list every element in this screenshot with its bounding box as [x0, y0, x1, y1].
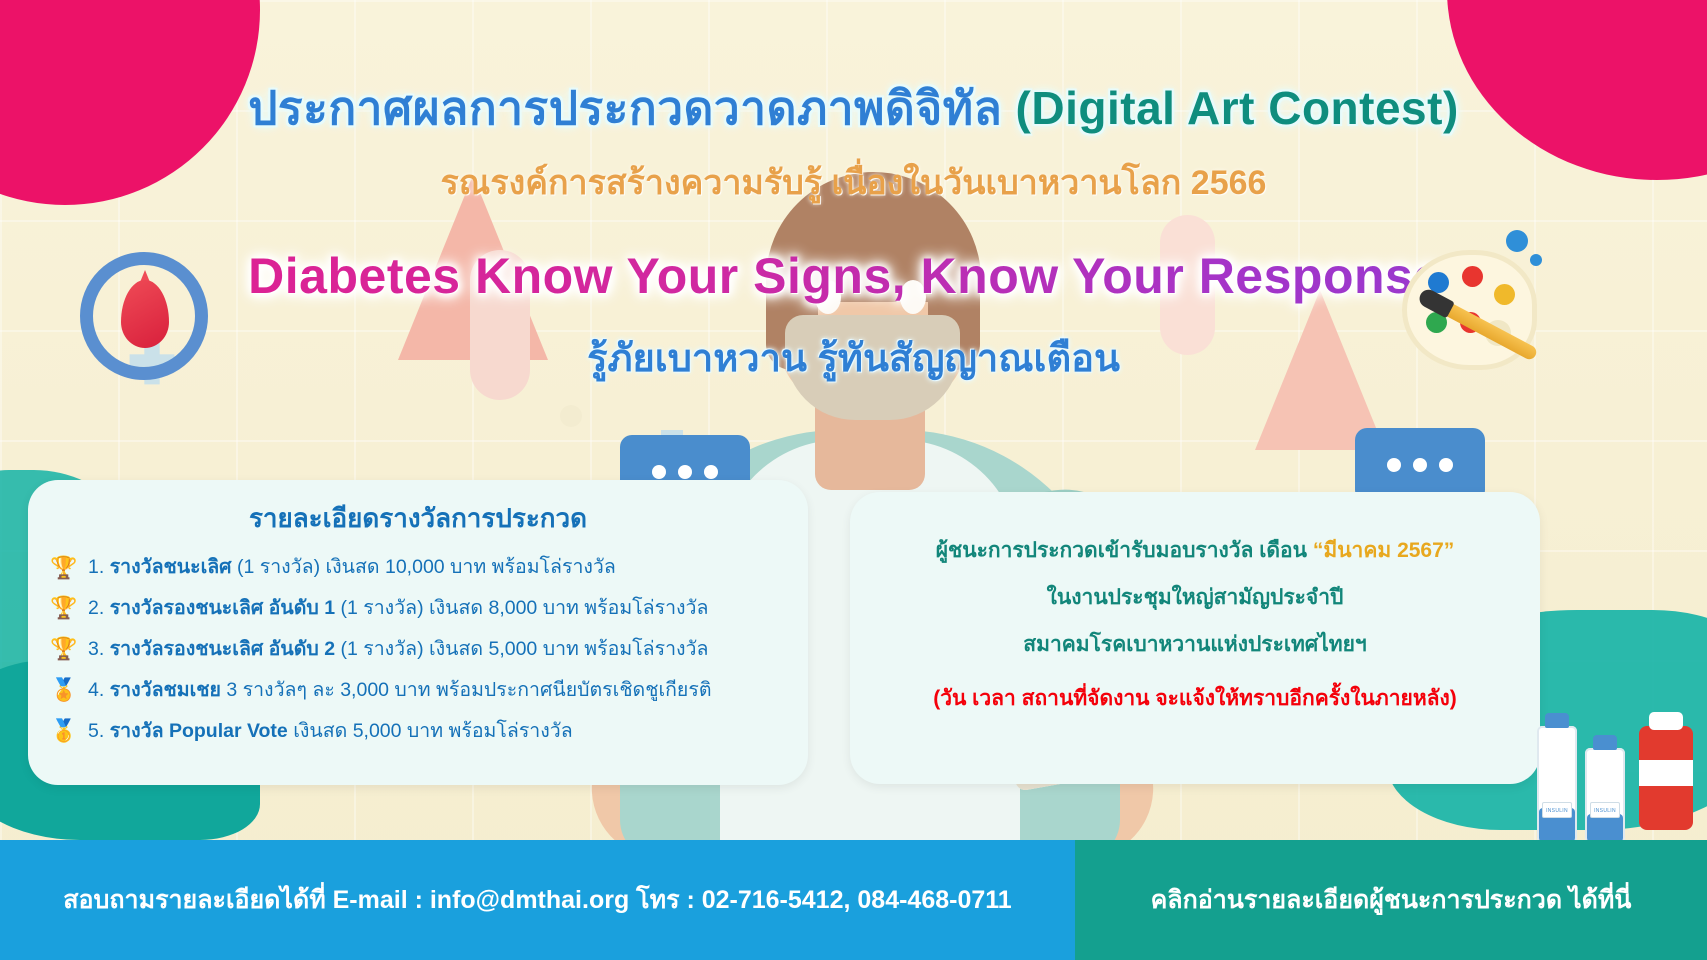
ceremony-organizer-line: สมาคมโรคเบาหวานแห่งประเทศไทยฯ: [850, 621, 1540, 668]
ceremony-date-line: ผู้ชนะการประกวดเข้ารับมอบรางวัล เดือน “ม…: [850, 492, 1540, 574]
blood-drop-icon: [80, 252, 208, 380]
contact-info-bar: สอบถามรายละเอียดได้ที่ E-mail : info@dmt…: [0, 840, 1075, 960]
prize-list-item: 🥇 5. รางวัล Popular Vote เงินสด 5,000 บา…: [50, 711, 792, 752]
art-palette-icon: [1402, 250, 1537, 370]
speech-bubble-icon-right: [1355, 428, 1485, 502]
ceremony-date-prefix: ผู้ชนะการประกวดเข้ารับมอบรางวัล เดือน: [936, 539, 1313, 562]
insulin-vials-illustration: INSULIN INSULIN: [1529, 694, 1679, 844]
insulin-vial-icon: INSULIN: [1585, 748, 1625, 844]
trophy-icon: 🏆: [50, 633, 78, 665]
prize-list-item: 🏆 2. รางวัลรองชนะเลิศ อันดับ 1 (1 รางวัล…: [50, 588, 792, 629]
prize-list-item: 🏅 4. รางวัลชมเชย 3 รางวัลๆ ละ 3,000 บาท …: [50, 670, 792, 711]
ceremony-month-highlight: “มีนาคม 2567”: [1313, 539, 1454, 562]
prize-number: 5.: [88, 720, 110, 742]
page-title-thai: ประกาศผลการประกวดวาดภาพดิจิทัล: [248, 82, 1015, 134]
winners-link-button[interactable]: คลิกอ่านรายละเอียดผู้ชนะการประกวด ได้ที่…: [1075, 840, 1707, 960]
page-subtitle: รณรงค์การสร้างความรับรู้ เนื่องในวันเบาห…: [0, 155, 1707, 209]
prize-list-item: 🏆 3. รางวัลรองชนะเลิศ อันดับ 2 (1 รางวัล…: [50, 629, 792, 670]
prize-number: 2.: [88, 597, 110, 619]
insulin-vial-icon: INSULIN: [1537, 726, 1577, 844]
rosette-icon: 🏅: [50, 674, 78, 706]
prize-detail: (1 รางวัล) เงินสด 10,000 บาท พร้อมโล่ราง…: [232, 556, 616, 578]
prize-details-card: รายละเอียดรางวัลการประกวด 🏆 1. รางวัลชนะ…: [28, 480, 808, 785]
trophy-icon: 🏆: [50, 592, 78, 624]
medal-icon: 🥇: [50, 715, 78, 747]
page-title-english: (Digital Art Contest): [1016, 82, 1459, 134]
ceremony-notice-line: (วัน เวลา สถานที่จัดงาน จะแจ้งให้ทราบอีก…: [850, 668, 1540, 722]
ceremony-event-line: ในงานประชุมใหญ่สามัญประจำปี: [850, 574, 1540, 621]
poster-canvas: ประกาศผลการประกวดวาดภาพดิจิทัล (Digital …: [0, 0, 1707, 960]
prize-detail: (1 รางวัล) เงินสด 5,000 บาท พร้อมโล่รางว…: [335, 638, 708, 660]
prize-number: 4.: [88, 679, 110, 701]
prize-list-item: 🏆 1. รางวัลชนะเลิศ (1 รางวัล) เงินสด 10,…: [50, 547, 792, 588]
prize-name: รางวัลรองชนะเลิศ อันดับ 2: [110, 638, 335, 660]
vial-label: INSULIN: [1590, 802, 1620, 818]
prize-name: รางวัล Popular Vote: [110, 720, 288, 742]
prize-name: รางวัลชมเชย: [110, 679, 221, 701]
trophy-icon: 🏆: [50, 552, 78, 584]
prize-name: รางวัลชนะเลิศ: [110, 556, 232, 578]
prize-detail: เงินสด 5,000 บาท พร้อมโล่รางวัล: [288, 720, 573, 742]
prize-number: 3.: [88, 638, 110, 660]
prize-card-title: รายละเอียดรางวัลการประกวด: [28, 480, 808, 547]
medicine-box-icon: [1639, 726, 1693, 830]
page-title: ประกาศผลการประกวดวาดภาพดิจิทัล (Digital …: [0, 82, 1707, 135]
prize-detail: (1 รางวัล) เงินสด 8,000 บาท พร้อมโล่รางว…: [335, 597, 708, 619]
footer-bar: สอบถามรายละเอียดได้ที่ E-mail : info@dmt…: [0, 840, 1707, 960]
prize-name: รางวัลรองชนะเลิศ อันดับ 1: [110, 597, 335, 619]
vial-label: INSULIN: [1542, 802, 1572, 818]
award-ceremony-card: ผู้ชนะการประกวดเข้ารับมอบรางวัล เดือน “ม…: [850, 492, 1540, 784]
prize-list: 🏆 1. รางวัลชนะเลิศ (1 รางวัล) เงินสด 10,…: [28, 547, 808, 751]
prize-detail: 3 รางวัลๆ ละ 3,000 บาท พร้อมประกาศนียบัต…: [221, 679, 712, 701]
prize-number: 1.: [88, 556, 110, 578]
